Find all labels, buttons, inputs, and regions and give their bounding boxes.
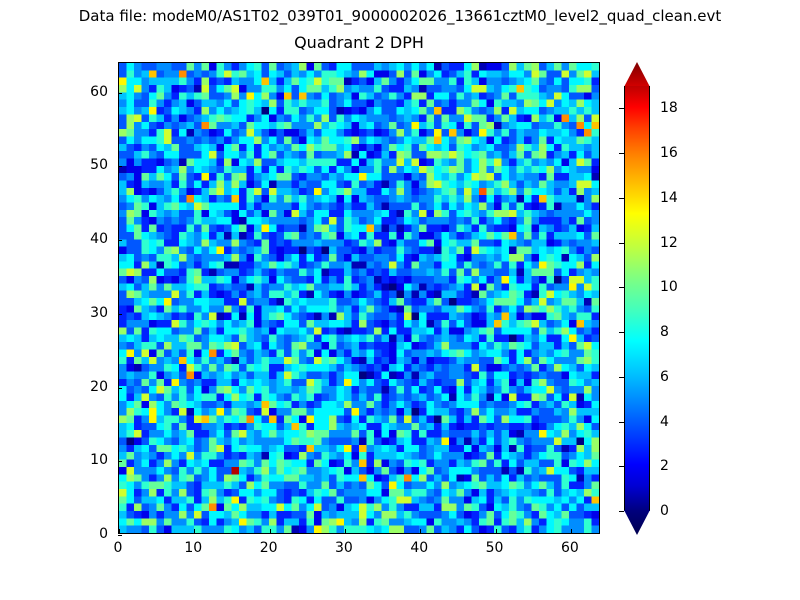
y-tick-mark xyxy=(118,240,122,241)
colorbar-tick-label: 0 xyxy=(660,503,669,519)
y-tick-label: 30 xyxy=(74,305,108,321)
y-tick-label: 40 xyxy=(74,231,108,247)
colorbar-tick-mark xyxy=(619,466,624,467)
colorbar-under-arrow xyxy=(624,510,650,535)
colorbar-over-arrow xyxy=(624,62,650,87)
figure-canvas: Data file: modeM0/AS1T02_039T01_90000020… xyxy=(0,0,800,600)
colorbar-tick-label: 6 xyxy=(660,369,669,385)
colorbar-tick-mark xyxy=(619,332,624,333)
colorbar-tick-label: 12 xyxy=(660,235,678,251)
colorbar-tick-label: 10 xyxy=(660,279,678,295)
x-tick-label: 0 xyxy=(114,540,123,556)
colorbar-tick-label: 8 xyxy=(660,324,669,340)
y-tick-label: 50 xyxy=(74,157,108,173)
colorbar-tick-mark xyxy=(619,511,624,512)
colorbar-tick-mark xyxy=(619,243,624,244)
y-tick-mark xyxy=(118,314,122,315)
colorbar-gradient xyxy=(624,86,650,511)
x-tick-label: 40 xyxy=(410,540,428,556)
x-tick-mark xyxy=(270,529,271,533)
y-tick-mark xyxy=(118,93,122,94)
colorbar-tick-mark xyxy=(619,422,624,423)
colorbar-tick-label: 16 xyxy=(660,145,678,161)
x-tick-label: 30 xyxy=(335,540,353,556)
y-tick-label: 10 xyxy=(74,452,108,468)
x-tick-mark xyxy=(571,529,572,533)
data-file-label: Data file: modeM0/AS1T02_039T01_90000020… xyxy=(0,7,800,25)
y-tick-mark xyxy=(118,535,122,536)
colorbar-tick-mark xyxy=(619,377,624,378)
y-tick-mark xyxy=(118,166,122,167)
heatmap-image xyxy=(119,63,599,533)
y-tick-label: 20 xyxy=(74,379,108,395)
x-tick-mark xyxy=(119,529,120,533)
colorbar-tick-label: 2 xyxy=(660,458,669,474)
colorbar[interactable]: 024681012141618 xyxy=(624,62,650,535)
plot-title: Quadrant 2 DPH xyxy=(118,33,600,52)
y-tick-label: 0 xyxy=(74,526,108,542)
x-tick-label: 50 xyxy=(486,540,504,556)
colorbar-tick-label: 4 xyxy=(660,414,669,430)
colorbar-tick-label: 14 xyxy=(660,190,678,206)
x-tick-mark xyxy=(345,529,346,533)
x-tick-label: 10 xyxy=(184,540,202,556)
colorbar-tick-mark xyxy=(619,108,624,109)
colorbar-tick-mark xyxy=(619,153,624,154)
heatmap-axes[interactable] xyxy=(118,62,600,534)
colorbar-tick-mark xyxy=(619,198,624,199)
y-tick-mark xyxy=(118,388,122,389)
x-tick-mark xyxy=(194,529,195,533)
y-tick-mark xyxy=(118,461,122,462)
x-tick-label: 20 xyxy=(260,540,278,556)
colorbar-tick-label: 18 xyxy=(660,100,678,116)
x-tick-mark xyxy=(420,529,421,533)
colorbar-tick-mark xyxy=(619,287,624,288)
y-tick-label: 60 xyxy=(74,84,108,100)
x-tick-mark xyxy=(496,529,497,533)
x-tick-label: 60 xyxy=(561,540,579,556)
